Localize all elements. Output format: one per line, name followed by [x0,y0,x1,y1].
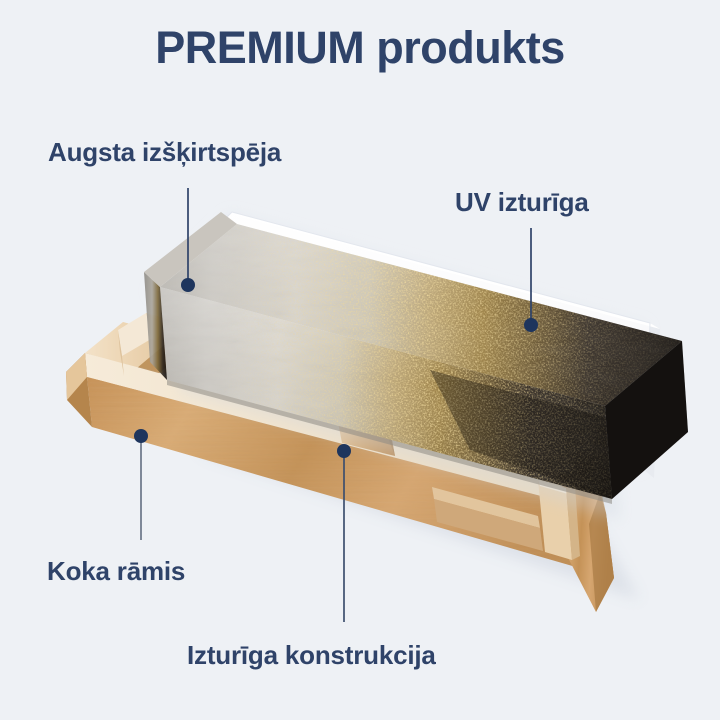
callout-label-structure: Izturīga konstrukcija [187,640,436,671]
callout-dot-resolution[interactable] [181,278,195,292]
premium-product-infographic: PREMIUM produkts Augsta izšķirtspēja UV … [0,0,720,720]
page-title: PREMIUM produkts [0,22,720,74]
callout-label-resolution: Augsta izšķirtspēja [48,137,281,168]
exploded-view-illustration [0,0,720,720]
callout-dot-frame[interactable] [134,429,148,443]
callout-dot-uv[interactable] [524,318,538,332]
callout-label-frame: Koka rāmis [47,556,185,587]
callout-label-uv: UV izturīga [455,187,589,218]
callout-dot-structure[interactable] [337,444,351,458]
